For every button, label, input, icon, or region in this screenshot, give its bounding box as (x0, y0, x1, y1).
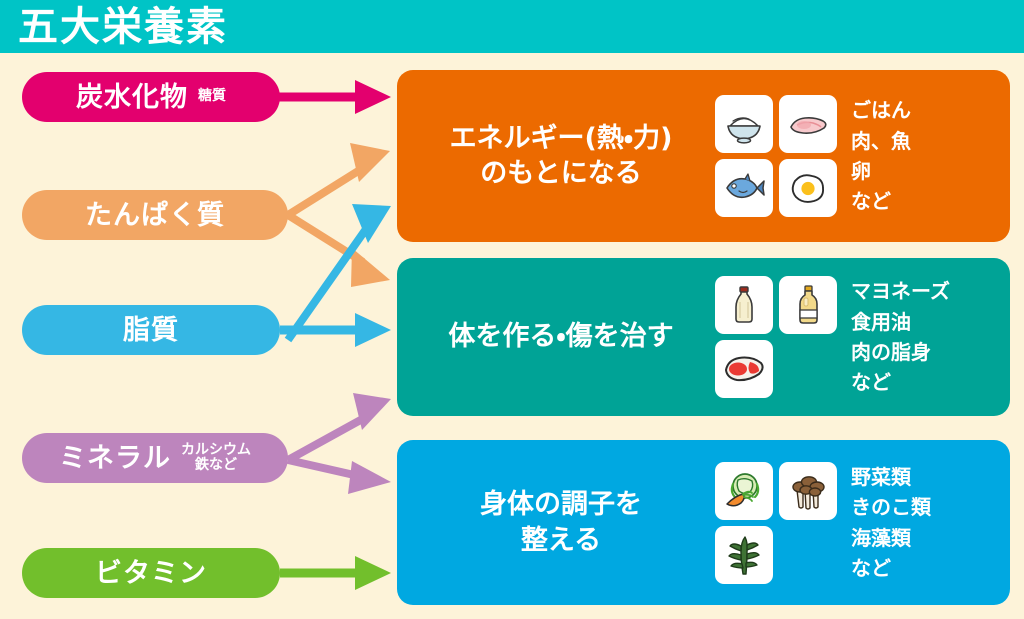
nutrient-sublabel-carbohydrate: 糖質 (198, 89, 226, 104)
vegetables-icon (715, 462, 773, 520)
food-icon-grid-energy (715, 95, 837, 217)
nutrient-pill-fat[interactable]: 脂質 (22, 305, 280, 355)
food-list-energy: ごはん 肉、魚 卵 など (851, 95, 911, 217)
fish-icon (715, 159, 773, 217)
nutrient-label-fat: 脂質 (123, 317, 179, 344)
nutrient-label-protein: たんぱく質 (85, 202, 225, 229)
function-panel-energy[interactable]: エネルギー(熱・力) のもとになる (397, 70, 1010, 242)
function-headline-energy: エネルギー(熱・力) のもとになる (397, 121, 711, 191)
arrow-mineral-to-body-regulation (288, 460, 391, 494)
arrow-protein-to-energy (288, 143, 390, 215)
arrow-vitamin-to-body-regulation (280, 556, 391, 590)
mushrooms-icon (779, 462, 837, 520)
cooking-oil-bottle-icon (779, 276, 837, 334)
function-panel-body-building[interactable]: 体を作る・傷を治す (397, 258, 1010, 416)
function-panel-body-regulation[interactable]: 身体の調子を 整える (397, 440, 1010, 605)
infographic-canvas: 五大栄養素 (0, 0, 1024, 619)
fried-egg-icon (779, 159, 837, 217)
nutrient-label-carbohydrate: 炭水化物 (76, 84, 188, 111)
fatty-meat-icon (715, 340, 773, 398)
food-list-body-building: マヨネーズ 食用油 肉の脂身 など (851, 276, 950, 398)
function-headline-body-building: 体を作る・傷を治す (397, 319, 711, 354)
food-list-body-regulation: 野菜類 きのこ類 海藻類 など (851, 462, 931, 584)
nutrient-pill-vitamin[interactable]: ビタミン (22, 548, 280, 598)
mayonnaise-bottle-icon (715, 276, 773, 334)
nutrient-pill-mineral[interactable]: ミネラル カルシウム 鉄など (22, 433, 288, 483)
nutrient-sublabel-mineral: カルシウム 鉄など (181, 443, 251, 473)
meat-slice-icon (779, 95, 837, 153)
food-icon-grid-body-building (715, 276, 837, 398)
nutrient-pill-carbohydrate[interactable]: 炭水化物 糖質 (22, 72, 280, 122)
nutrient-label-mineral: ミネラル (59, 445, 171, 472)
function-headline-body-regulation: 身体の調子を 整える (397, 487, 711, 557)
nutrient-label-vitamin: ビタミン (95, 560, 207, 587)
nutrient-pill-protein[interactable]: たんぱく質 (22, 190, 288, 240)
arrow-mineral-to-body-building (288, 393, 391, 460)
arrow-fat-to-body-building (280, 313, 391, 347)
arrow-carbohydrate-to-energy (270, 80, 391, 114)
seaweed-icon (715, 526, 773, 584)
rice-bowl-icon (715, 95, 773, 153)
food-icon-grid-body-regulation (715, 462, 837, 584)
